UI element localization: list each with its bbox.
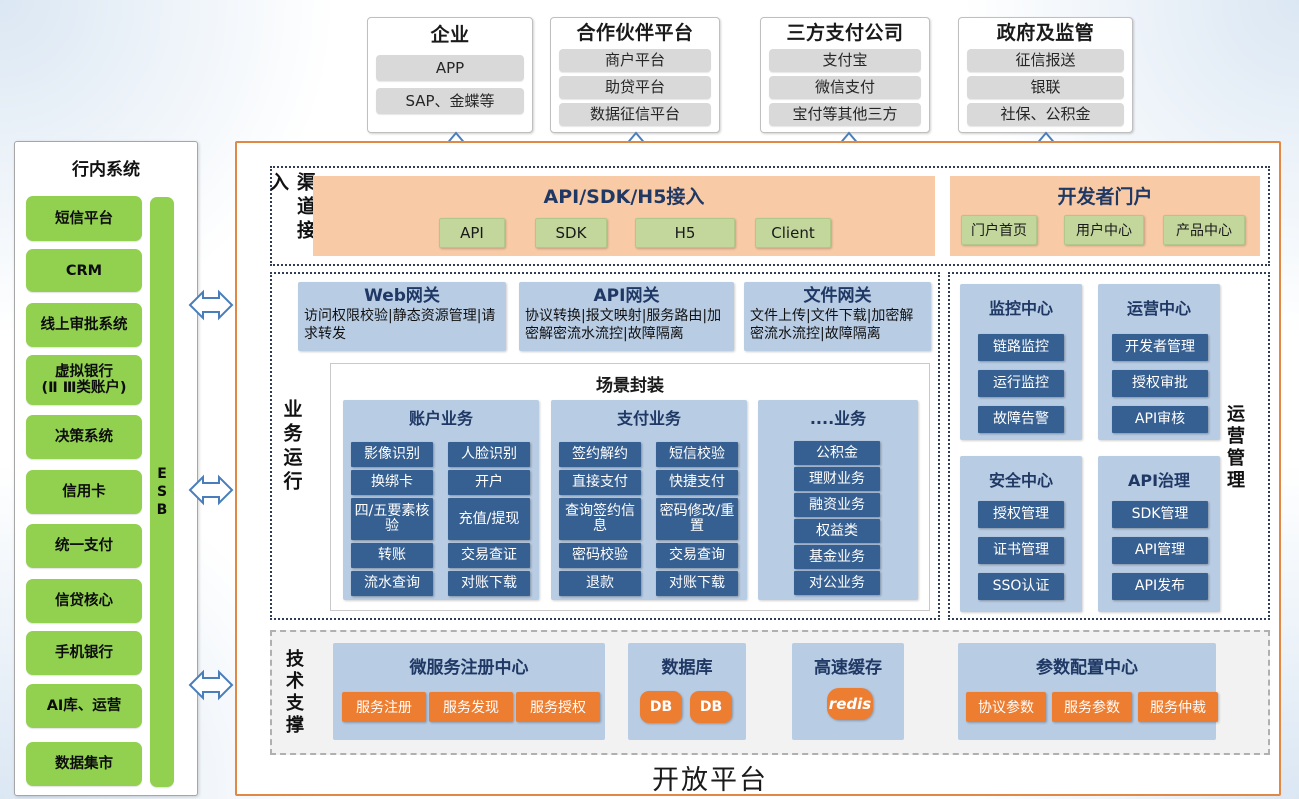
ops-item[interactable]: SDK管理 <box>1112 501 1208 528</box>
gateway-card-web: Web网关 访问权限校验|静态资源管理|请求转发 <box>298 282 506 351</box>
internal-system-item-unified-payment[interactable]: 统一支付 <box>26 524 142 568</box>
item-label: 对账下载 <box>461 576 517 591</box>
tech-item-db-primary[interactable]: DB <box>640 691 682 723</box>
channel-button-sdk[interactable]: SDK <box>535 218 607 248</box>
ops-item[interactable]: 证书管理 <box>978 537 1064 564</box>
item-label: 对公业务 <box>809 576 865 591</box>
external-party-enterprise: 企业 APP SAP、金蝶等 <box>367 17 533 133</box>
business-item[interactable]: 换绑卡 <box>351 470 433 495</box>
external-party-item: 支付宝 <box>769 49 921 72</box>
channel-button-client[interactable]: Client <box>755 218 831 248</box>
connector-arrow-horizontal <box>188 670 234 700</box>
item-label: 对账下载 <box>669 576 725 591</box>
ops-item[interactable]: API发布 <box>1112 573 1208 600</box>
item-label: 链路监控 <box>993 340 1049 355</box>
business-item[interactable]: 交易查询 <box>656 543 738 568</box>
ops-card-title: API治理 <box>1098 467 1220 491</box>
item-label: 理财业务 <box>809 472 865 487</box>
tech-item-service-arbitration[interactable]: 服务仲裁 <box>1138 692 1218 722</box>
item-label: 密码校验 <box>572 548 628 563</box>
external-party-item: 数据征信平台 <box>559 103 711 126</box>
item-label: 转账 <box>378 548 406 563</box>
business-item[interactable]: 公积金 <box>794 441 880 465</box>
business-item[interactable]: 密码修改/重置 <box>656 498 738 540</box>
business-group-title: 账户业务 <box>343 405 539 429</box>
business-item[interactable]: 开户 <box>448 470 530 495</box>
item-label: 统一支付 <box>55 538 113 554</box>
item-label: 四/五要素核验 <box>351 504 433 534</box>
scene-encapsulation-title: 场景封装 <box>331 371 929 396</box>
external-party-third-party-payment: 三方支付公司 支付宝 微信支付 宝付等其他三方 <box>760 17 930 133</box>
business-item[interactable]: 短信校验 <box>656 442 738 467</box>
ops-item[interactable]: 链路监控 <box>978 334 1064 361</box>
item-label: 充值/提现 <box>459 512 520 527</box>
item-label: 短信校验 <box>669 447 725 462</box>
item-label: 虚拟银行 (Ⅱ Ⅲ类账户) <box>41 364 126 396</box>
item-label: redis <box>829 695 871 713</box>
ops-item[interactable]: 运行监控 <box>978 370 1064 397</box>
button-label: API <box>460 224 484 242</box>
tech-item-db-secondary[interactable]: DB <box>690 691 732 723</box>
item-label: SDK管理 <box>1132 507 1189 522</box>
external-party-title: 政府及监管 <box>967 22 1124 45</box>
item-label: 直接支付 <box>572 475 628 490</box>
business-item[interactable]: 签约解约 <box>559 442 641 467</box>
channel-button-api[interactable]: API <box>439 218 505 248</box>
ops-item[interactable]: API审核 <box>1112 406 1208 433</box>
ops-item[interactable]: SSO认证 <box>978 573 1064 600</box>
business-item[interactable]: 充值/提现 <box>448 498 530 540</box>
tech-card-title: 高速缓存 <box>792 653 904 678</box>
business-item[interactable]: 对账下载 <box>448 571 530 596</box>
item-label: 换绑卡 <box>371 475 413 490</box>
portal-button-user-center[interactable]: 用户中心 <box>1064 215 1144 245</box>
tech-item-service-discovery[interactable]: 服务发现 <box>429 692 513 722</box>
tech-card-title: 数据库 <box>628 653 746 678</box>
gateway-card-api: API网关 协议转换|报文映射|服务路由|加密解密流水流控|故障隔离 <box>519 282 734 351</box>
business-item[interactable]: 交易查证 <box>448 543 530 568</box>
business-item[interactable]: 四/五要素核验 <box>351 498 433 540</box>
portal-button-home[interactable]: 门户首页 <box>961 215 1037 245</box>
item-label: AI库、运营 <box>47 698 122 714</box>
item-label: 短信平台 <box>55 211 113 227</box>
item-label: 查询签约信息 <box>559 504 641 534</box>
ops-card-title: 安全中心 <box>960 467 1082 491</box>
button-label: Client <box>771 224 814 242</box>
tech-item-protocol-params[interactable]: 协议参数 <box>966 692 1046 722</box>
portal-button-product-center[interactable]: 产品中心 <box>1163 215 1245 245</box>
channel-access-main-title: API/SDK/H5接入 <box>313 182 935 209</box>
item-label: 签约解约 <box>572 447 628 462</box>
item-label: API发布 <box>1135 579 1185 594</box>
external-party-item: 宝付等其他三方 <box>769 103 921 126</box>
business-running-label: 业务运行 <box>279 392 305 502</box>
channel-button-h5[interactable]: H5 <box>635 218 735 248</box>
item-label: 服务授权 <box>530 697 586 717</box>
item-label: 开发者管理 <box>1125 340 1195 355</box>
business-item[interactable]: 人脸识别 <box>448 442 530 467</box>
button-label: 门户首页 <box>971 220 1027 240</box>
internal-system-item-crm[interactable]: CRM <box>26 249 142 292</box>
business-item[interactable]: 融资业务 <box>794 493 880 517</box>
gateway-desc: 协议转换|报文映射|服务路由|加密解密流水流控|故障隔离 <box>525 307 728 343</box>
item-label: 决策系统 <box>55 429 113 445</box>
internal-systems-title: 行内系统 <box>15 155 197 180</box>
item-label: 人脸识别 <box>461 447 517 462</box>
item-label: 基金业务 <box>809 550 865 565</box>
item-label: 信用卡 <box>62 484 106 500</box>
open-platform-title: 开放平台 <box>600 758 820 797</box>
business-item[interactable]: 密码校验 <box>559 543 641 568</box>
internal-system-item-data-mart[interactable]: 数据集市 <box>26 742 142 786</box>
item-label: 融资业务 <box>809 498 865 513</box>
external-party-item: 征信报送 <box>967 49 1124 72</box>
item-label: DB <box>650 699 672 715</box>
tech-item-redis[interactable]: redis <box>827 688 873 720</box>
external-party-item: 微信支付 <box>769 76 921 99</box>
business-group-title: 支付业务 <box>551 405 747 429</box>
tech-support-label: 技术支撑 <box>280 640 306 745</box>
external-party-title: 企业 <box>376 22 524 48</box>
ops-item[interactable]: API管理 <box>1112 537 1208 564</box>
esb-label-b: B <box>157 501 168 519</box>
external-party-partner-platform: 合作伙伴平台 商户平台 助贷平台 数据征信平台 <box>550 17 720 133</box>
tech-item-service-params[interactable]: 服务参数 <box>1052 692 1132 722</box>
business-item[interactable]: 影像识别 <box>351 442 433 467</box>
channel-access-label: 渠道接入 <box>279 172 305 262</box>
gateway-desc: 访问权限校验|静态资源管理|请求转发 <box>304 307 500 343</box>
item-label: 公积金 <box>816 446 858 461</box>
business-item[interactable]: 流水查询 <box>351 571 433 596</box>
esb-label-e: E <box>157 465 167 483</box>
item-label: 服务发现 <box>443 697 499 717</box>
gateway-title: 文件网关 <box>750 285 925 307</box>
ops-management-label: 运营管理 <box>1221 395 1247 500</box>
item-label: 服务参数 <box>1064 697 1120 717</box>
business-item[interactable]: 基金业务 <box>794 545 880 569</box>
ops-item[interactable]: 授权审批 <box>1112 370 1208 397</box>
tech-item-service-register[interactable]: 服务注册 <box>342 692 426 722</box>
item-label: 手机银行 <box>55 645 113 661</box>
button-label: 产品中心 <box>1176 220 1232 240</box>
external-party-item: SAP、金蝶等 <box>376 88 524 114</box>
gateway-card-file: 文件网关 文件上传|文件下载|加密解密流水流控|故障隔离 <box>744 282 931 351</box>
item-label: 交易查证 <box>461 548 517 563</box>
business-group-title: ....业务 <box>758 405 918 429</box>
internal-system-item-credit-core[interactable]: 信贷核心 <box>26 579 142 623</box>
tech-card-title: 微服务注册中心 <box>333 653 605 678</box>
item-label: DB <box>700 699 722 715</box>
external-party-item: APP <box>376 55 524 81</box>
item-label: 服务注册 <box>356 697 412 717</box>
internal-system-item-credit-card[interactable]: 信用卡 <box>26 470 142 514</box>
button-label: SDK <box>556 224 587 242</box>
business-item[interactable]: 直接支付 <box>559 470 641 495</box>
item-label: 证书管理 <box>993 543 1049 558</box>
item-label: 交易查询 <box>669 548 725 563</box>
internal-system-item-ai-ops[interactable]: AI库、运营 <box>26 684 142 728</box>
esb-label-s: S <box>157 483 167 501</box>
developer-portal-title: 开发者门户 <box>950 182 1260 209</box>
item-label: SSO认证 <box>993 579 1050 594</box>
item-label: 故障告警 <box>993 412 1049 427</box>
item-label: 运行监控 <box>993 376 1049 391</box>
internal-system-item-virtual-bank[interactable]: 虚拟银行 (Ⅱ Ⅲ类账户) <box>26 355 142 405</box>
external-party-government-regulator: 政府及监管 征信报送 银联 社保、公积金 <box>958 17 1133 133</box>
business-item[interactable]: 查询签约信息 <box>559 498 641 540</box>
item-label: 退款 <box>586 576 614 591</box>
internal-system-item-sms-platform[interactable]: 短信平台 <box>26 196 142 241</box>
ops-item[interactable]: 开发者管理 <box>1112 334 1208 361</box>
ops-item[interactable]: 故障告警 <box>978 406 1064 433</box>
external-party-item: 商户平台 <box>559 49 711 72</box>
button-label: 用户中心 <box>1076 220 1132 240</box>
item-label: 授权管理 <box>993 507 1049 522</box>
internal-system-item-decision-system[interactable]: 决策系统 <box>26 415 142 459</box>
tech-item-service-authorization[interactable]: 服务授权 <box>516 692 600 722</box>
business-item[interactable]: 退款 <box>559 571 641 596</box>
external-party-item: 社保、公积金 <box>967 103 1124 126</box>
business-item[interactable]: 对公业务 <box>794 571 880 595</box>
item-label: 影像识别 <box>364 447 420 462</box>
gateway-title: Web网关 <box>304 285 500 307</box>
business-item[interactable]: 理财业务 <box>794 467 880 491</box>
business-item[interactable]: 快捷支付 <box>656 470 738 495</box>
ops-card-title: 运营中心 <box>1098 295 1220 319</box>
item-label: 权益类 <box>816 524 858 539</box>
ops-item[interactable]: 授权管理 <box>978 501 1064 528</box>
external-party-item: 银联 <box>967 76 1124 99</box>
business-item[interactable]: 转账 <box>351 543 433 568</box>
button-label: H5 <box>675 224 696 242</box>
item-label: 密码修改/重置 <box>656 504 738 534</box>
gateway-desc: 文件上传|文件下载|加密解密流水流控|故障隔离 <box>750 307 925 343</box>
business-item[interactable]: 对账下载 <box>656 571 738 596</box>
item-label: API审核 <box>1135 412 1185 427</box>
item-label: 数据集市 <box>55 756 113 772</box>
connector-arrow-horizontal <box>188 475 234 505</box>
item-label: API管理 <box>1135 543 1185 558</box>
item-label: 信贷核心 <box>55 593 113 609</box>
item-label: 开户 <box>475 475 503 490</box>
business-item[interactable]: 权益类 <box>794 519 880 543</box>
external-party-item: 助贷平台 <box>559 76 711 99</box>
external-party-title: 三方支付公司 <box>769 22 921 45</box>
channel-access-main-card: API/SDK/H5接入 <box>313 176 935 256</box>
item-label: 快捷支付 <box>669 475 725 490</box>
item-label: 授权审批 <box>1132 376 1188 391</box>
gateway-title: API网关 <box>525 285 728 307</box>
external-party-title: 合作伙伴平台 <box>559 22 711 45</box>
tech-card-title: 参数配置中心 <box>958 653 1216 678</box>
item-label: CRM <box>66 263 102 279</box>
item-label: 服务仲裁 <box>1150 697 1206 717</box>
item-label: 协议参数 <box>978 697 1034 717</box>
connector-arrow-horizontal <box>188 290 234 320</box>
ops-card-title: 监控中心 <box>960 295 1082 319</box>
item-label: 线上审批系统 <box>41 317 128 333</box>
item-label: 流水查询 <box>364 576 420 591</box>
internal-system-item-online-approval[interactable]: 线上审批系统 <box>26 303 142 347</box>
internal-system-item-mobile-bank[interactable]: 手机银行 <box>26 631 142 675</box>
esb-bus: E S B <box>150 197 174 787</box>
